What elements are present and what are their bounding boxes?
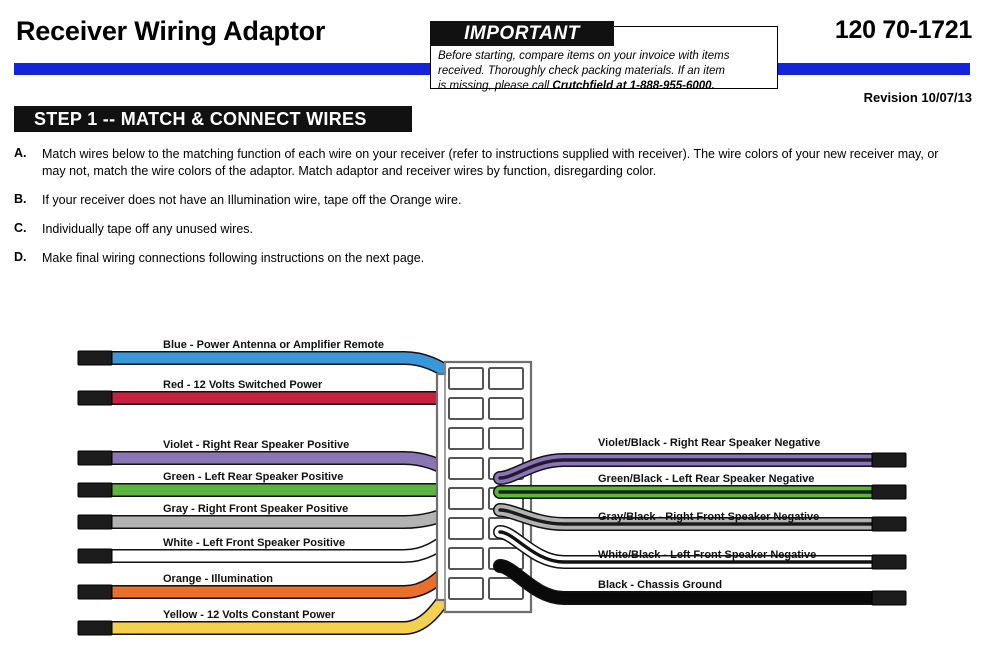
wire-terminal-blue [78, 351, 112, 365]
instruction-text: Match wires below to the matching functi… [42, 146, 954, 180]
left-wire-group [78, 351, 468, 635]
wire-label-violet: Violet - Right Rear Speaker Positive [163, 439, 349, 451]
wire-label-green: Green - Left Rear Speaker Positive [163, 471, 343, 483]
wire-label-gray-black: Gray/Black - Right Front Speaker Negativ… [598, 511, 819, 523]
wiring-adaptor-instruction-sheet: Receiver Wiring Adaptor 120 70-1721 Revi… [0, 0, 984, 665]
wire-label-red: Red - 12 Volts Switched Power [163, 379, 323, 391]
wire-label-blue: Blue - Power Antenna or Amplifier Remote [163, 339, 384, 351]
wire-label-black: Black - Chassis Ground [598, 579, 722, 591]
connector-slot [449, 368, 483, 389]
connector-slot [449, 578, 483, 599]
wire-terminal-red [78, 391, 112, 405]
wire-red [78, 391, 468, 405]
connector-slot [489, 368, 523, 389]
instruction-marker: C. [14, 221, 42, 235]
important-notice-text: Before starting, compare items on your i… [438, 49, 772, 94]
wire-label-violet-black: Violet/Black - Right Rear Speaker Negati… [598, 437, 820, 449]
wire-terminal-green-black [872, 485, 906, 499]
wire-body-blue [112, 358, 468, 381]
page-title: Receiver Wiring Adaptor [16, 16, 325, 47]
step-banner: STEP 1 -- MATCH & CONNECT WIRES [14, 106, 412, 132]
connector-slot [449, 398, 483, 419]
wiring-diagram: Blue - Power Antenna or Amplifier Remote… [0, 320, 984, 665]
instruction-text: If your receiver does not have an Illumi… [42, 192, 461, 209]
wire-label-white-black: White/Black - Left Front Speaker Negativ… [598, 549, 816, 561]
wire-green [78, 483, 468, 497]
connector-slot [449, 518, 483, 539]
wire-terminal-violet-black [872, 453, 906, 467]
revision-date: Revision 10/07/13 [864, 90, 972, 105]
connector-slot [489, 398, 523, 419]
instruction-item: B. If your receiver does not have an Ill… [14, 192, 954, 209]
wire-terminal-green [78, 483, 112, 497]
connector-slot [449, 458, 483, 479]
important-notice-tag: IMPORTANT [430, 21, 614, 46]
wiring-diagram-canvas: Blue - Power Antenna or Amplifier Remote… [0, 320, 984, 665]
important-line-1: Before starting, compare items on your i… [438, 50, 729, 62]
wire-label-yellow: Yellow - 12 Volts Constant Power [163, 609, 336, 621]
wire-terminal-white-black [872, 555, 906, 569]
wire-label-gray: Gray - Right Front Speaker Positive [163, 503, 348, 515]
wire-terminal-gray [78, 515, 112, 529]
wire-green-black [500, 485, 906, 499]
instruction-marker: D. [14, 250, 42, 264]
important-line-2: received. Thoroughly check packing mater… [438, 65, 725, 77]
instruction-marker: B. [14, 192, 42, 206]
wire-terminal-gray-black [872, 517, 906, 531]
instruction-text: Make final wiring connections following … [42, 250, 424, 267]
instruction-list: A. Match wires below to the matching fun… [14, 146, 954, 279]
important-contact: Crutchfield at 1-888-955-6000. [552, 80, 714, 92]
wire-label-orange: Orange - Illumination [163, 573, 273, 585]
wire-terminal-orange [78, 585, 112, 599]
instruction-item: C. Individually tape off any unused wire… [14, 221, 954, 238]
connector-slot [489, 428, 523, 449]
connector-slot [449, 488, 483, 509]
wire-terminal-black [872, 591, 906, 605]
instruction-text: Individually tape off any unused wires. [42, 221, 253, 238]
instruction-marker: A. [14, 146, 42, 160]
wire-label-white: White - Left Front Speaker Positive [163, 537, 345, 549]
wire-terminal-yellow [78, 621, 112, 635]
part-number: 120 70-1721 [835, 16, 972, 45]
instruction-item: A. Match wires below to the matching fun… [14, 146, 954, 180]
connector-slot [449, 428, 483, 449]
connector-slot [449, 548, 483, 569]
instruction-item: D. Make final wiring connections followi… [14, 250, 954, 267]
wire-terminal-white [78, 549, 112, 563]
wire-terminal-violet [78, 451, 112, 465]
important-line-3-prefix: is missing, please call [438, 80, 552, 92]
wire-label-green-black: Green/Black - Left Rear Speaker Negative [598, 473, 814, 485]
wire-blue [78, 351, 468, 381]
